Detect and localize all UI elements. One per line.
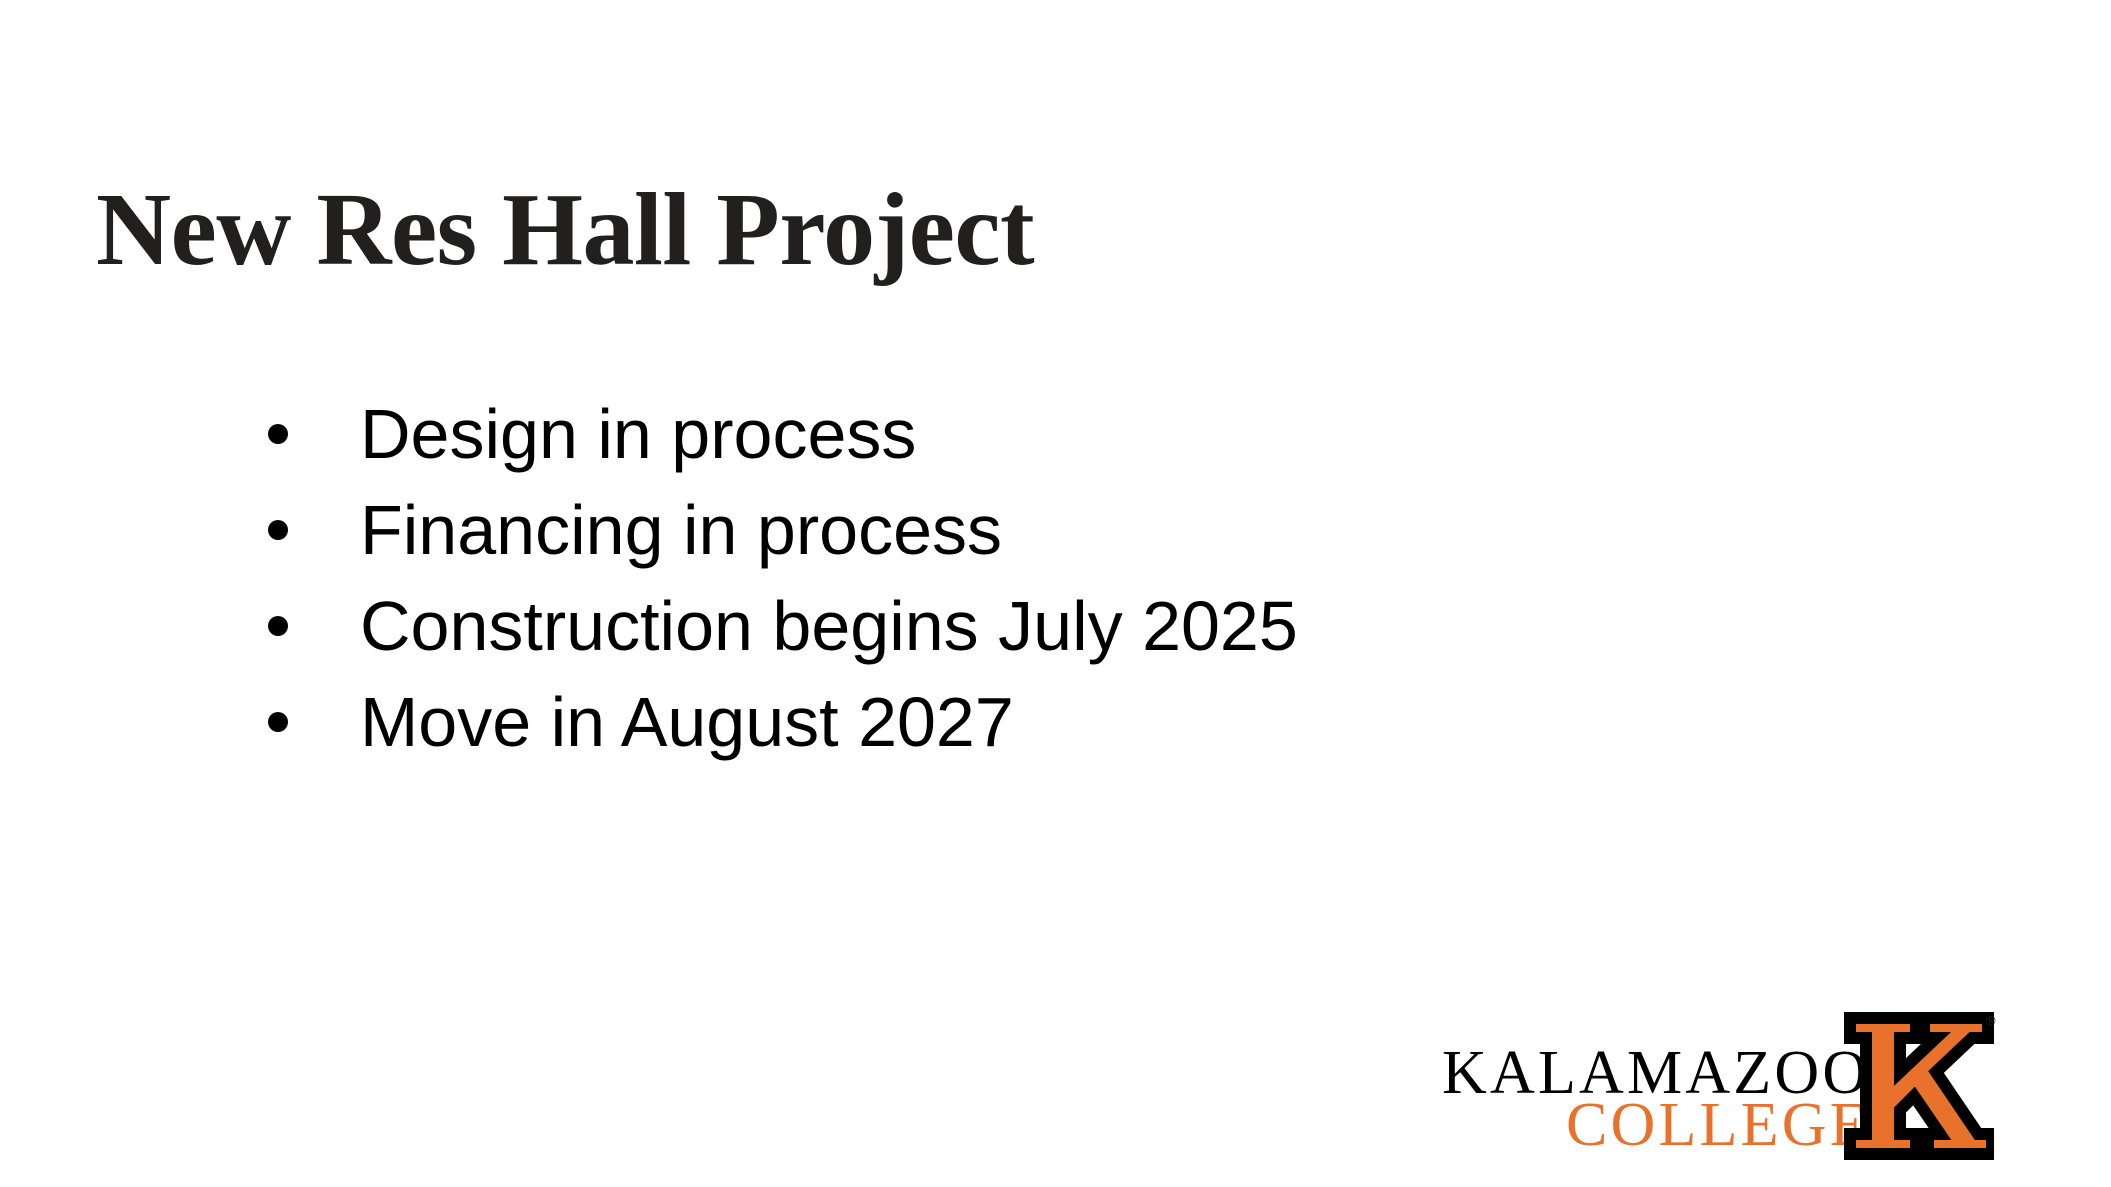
logo-k-monogram-icon: ® xyxy=(1844,1012,1994,1160)
list-item-label: Design in process xyxy=(360,386,916,482)
list-item-label: Move in August 2027 xyxy=(360,674,1014,770)
list-item: Design in process xyxy=(247,386,1847,482)
registered-trademark-icon: ® xyxy=(1986,1014,1996,1027)
logo-college-text: COLLEGE xyxy=(1566,1094,1871,1156)
list-item: Move in August 2027 xyxy=(247,674,1847,770)
bullet-dot-icon xyxy=(268,712,288,732)
list-item: Financing in process xyxy=(247,482,1847,578)
bullet-dot-icon xyxy=(268,424,288,444)
bullet-dot-icon xyxy=(268,520,288,540)
bullet-dot-icon xyxy=(268,616,288,636)
list-item-label: Financing in process xyxy=(360,482,1002,578)
list-item: Construction begins July 2025 xyxy=(247,578,1847,674)
kalamazoo-college-logo: KALAMAZOO COLLEGE ® xyxy=(1432,1012,2032,1172)
logo-wordmark: KALAMAZOO COLLEGE xyxy=(1432,1012,1864,1162)
presentation-slide: New Res Hall Project Design in process F… xyxy=(0,0,2111,1187)
page-title: New Res Hall Project xyxy=(96,178,1796,282)
list-item-label: Construction begins July 2025 xyxy=(360,578,1298,674)
bullet-list: Design in process Financing in process C… xyxy=(247,386,1847,770)
